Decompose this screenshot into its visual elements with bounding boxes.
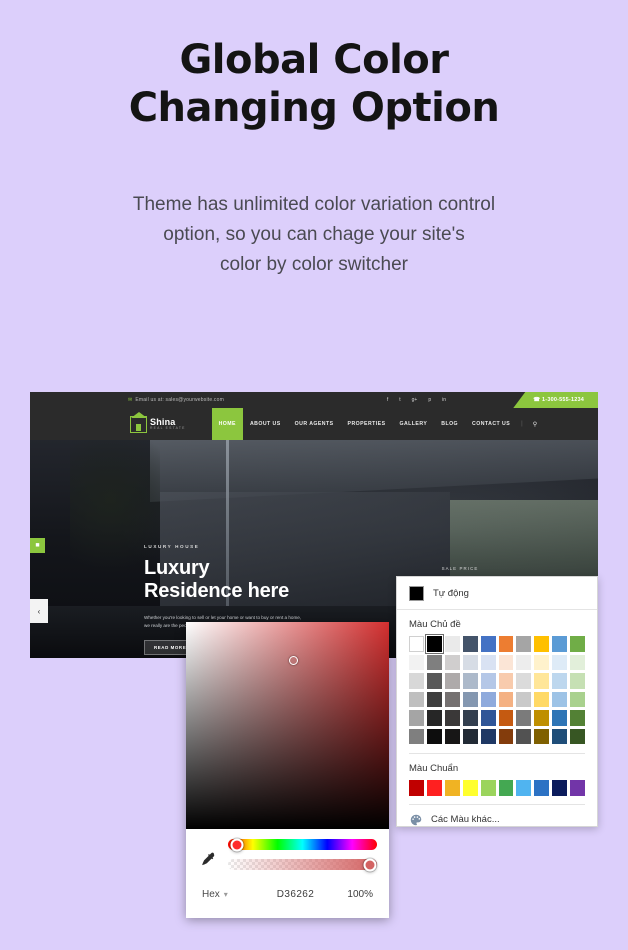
theme-color-swatch[interactable] xyxy=(445,673,460,689)
theme-color-swatch[interactable] xyxy=(463,673,478,689)
theme-color-swatch[interactable] xyxy=(516,710,531,726)
theme-color-swatch[interactable] xyxy=(445,729,460,745)
theme-color-row xyxy=(409,636,585,652)
standard-color-swatch[interactable] xyxy=(427,780,442,796)
standard-color-swatch[interactable] xyxy=(499,780,514,796)
theme-color-row xyxy=(409,729,585,745)
theme-color-swatch[interactable] xyxy=(570,636,585,652)
theme-color-swatch[interactable] xyxy=(481,636,496,652)
saturation-value-area[interactable] xyxy=(186,622,389,829)
theme-color-swatch[interactable] xyxy=(409,729,424,745)
search-icon[interactable]: ⚲ xyxy=(527,421,543,428)
theme-color-row xyxy=(409,692,585,708)
palette-icon xyxy=(409,813,423,827)
standard-color-swatch[interactable] xyxy=(481,780,496,796)
page-header: Global Color Changing Option Theme has u… xyxy=(0,0,628,280)
theme-color-swatch[interactable] xyxy=(534,673,549,689)
standard-colors-grid xyxy=(397,780,597,796)
chevron-down-icon: ▾ xyxy=(224,890,228,899)
topbar-phone-text: 1-300-555-1234 xyxy=(542,397,584,403)
automatic-color-option[interactable]: Tự động xyxy=(397,584,597,610)
pinterest-icon[interactable]: p xyxy=(428,397,431,403)
theme-color-swatch[interactable] xyxy=(427,692,442,708)
theme-color-swatch[interactable] xyxy=(463,636,478,652)
theme-color-swatch[interactable] xyxy=(499,710,514,726)
theme-color-swatch[interactable] xyxy=(463,692,478,708)
hue-slider-knob[interactable] xyxy=(230,838,243,851)
theme-color-swatch[interactable] xyxy=(481,673,496,689)
color-picker-popover: Hex ▾ D36262 100% xyxy=(186,622,389,918)
page-subtitle-line-2: option, so you can chage your site's xyxy=(0,220,628,250)
theme-color-swatch[interactable] xyxy=(481,692,496,708)
theme-color-swatch[interactable] xyxy=(409,692,424,708)
topbar-email[interactable]: ✉ Email us at: sales@yourwebsite.com xyxy=(128,397,224,403)
theme-color-swatch[interactable] xyxy=(445,636,460,652)
nav-item-properties[interactable]: PROPERTIES xyxy=(341,408,393,440)
nav-item-gallery[interactable]: GALLERY xyxy=(393,408,435,440)
nav-item-home[interactable]: HOME xyxy=(212,408,243,440)
price-label: SALE PRICE xyxy=(402,566,518,571)
theme-color-swatch[interactable] xyxy=(534,729,549,745)
theme-color-swatch[interactable] xyxy=(570,729,585,745)
standard-color-swatch[interactable] xyxy=(409,780,424,796)
hero-title: Luxury Residence here xyxy=(144,557,374,603)
standard-color-swatch[interactable] xyxy=(570,780,585,796)
theme-color-swatch[interactable] xyxy=(445,692,460,708)
theme-color-swatch[interactable] xyxy=(552,729,567,745)
more-colors-option[interactable]: Các Màu khác... xyxy=(409,804,585,827)
theme-color-swatch[interactable] xyxy=(427,655,442,671)
theme-color-swatch[interactable] xyxy=(481,710,496,726)
hero-title-line-2: Residence here xyxy=(144,580,374,603)
envelope-icon: ✉ xyxy=(128,397,132,403)
theme-color-swatch[interactable] xyxy=(552,692,567,708)
theme-color-swatch[interactable] xyxy=(570,673,585,689)
page-subtitle-line-1: Theme has unlimited color variation cont… xyxy=(0,190,628,220)
theme-color-swatch[interactable] xyxy=(570,710,585,726)
theme-color-swatch[interactable] xyxy=(552,710,567,726)
theme-color-swatch[interactable] xyxy=(463,655,478,671)
site-navbar: Shina REAL ESTATE HOME ABOUT US OUR AGEN… xyxy=(30,408,598,440)
theme-color-swatch[interactable] xyxy=(409,673,424,689)
theme-color-swatch[interactable] xyxy=(427,729,442,745)
theme-color-swatch[interactable] xyxy=(499,729,514,745)
theme-color-swatch[interactable] xyxy=(409,636,424,652)
theme-color-swatch[interactable] xyxy=(516,692,531,708)
hex-mode-dropdown[interactable]: Hex ▾ xyxy=(202,889,264,900)
alpha-slider-knob[interactable] xyxy=(363,858,376,871)
page-subtitle: Theme has unlimited color variation cont… xyxy=(0,190,628,280)
topbar-phone[interactable]: ☎ 1-300-555-1234 xyxy=(513,392,598,408)
theme-color-swatch[interactable] xyxy=(499,692,514,708)
slider-prev-button[interactable]: ‹ xyxy=(30,599,48,623)
theme-color-swatch[interactable] xyxy=(499,636,514,652)
theme-color-swatch[interactable] xyxy=(552,655,567,671)
site-top-bar: ✉ Email us at: sales@yourwebsite.com f t… xyxy=(30,392,598,408)
theme-color-swatch[interactable] xyxy=(534,636,549,652)
standard-color-swatch[interactable] xyxy=(516,780,531,796)
theme-color-swatch[interactable] xyxy=(463,729,478,745)
theme-color-swatch[interactable] xyxy=(570,655,585,671)
theme-color-swatch[interactable] xyxy=(534,692,549,708)
topbar-email-text: Email us at: sales@yourwebsite.com xyxy=(135,397,224,403)
phone-icon: ☎ xyxy=(533,397,542,403)
hex-mode-label: Hex xyxy=(202,889,220,900)
theme-color-swatch[interactable] xyxy=(445,655,460,671)
standard-color-swatch[interactable] xyxy=(445,780,460,796)
logo-tagline: REAL ESTATE xyxy=(150,427,186,430)
theme-color-swatch[interactable] xyxy=(516,655,531,671)
nav-item-blog[interactable]: BLOG xyxy=(434,408,465,440)
theme-color-swatch[interactable] xyxy=(552,636,567,652)
theme-color-swatch[interactable] xyxy=(463,710,478,726)
theme-color-swatch[interactable] xyxy=(516,636,531,652)
automatic-color-swatch[interactable] xyxy=(409,586,424,601)
nav-item-contact-us[interactable]: CONTACT US xyxy=(465,408,517,440)
theme-colors-title: Màu Chủ đề xyxy=(397,610,597,636)
theme-color-swatch[interactable] xyxy=(445,710,460,726)
theme-color-row xyxy=(409,710,585,726)
more-colors-label: Các Màu khác... xyxy=(431,814,500,825)
automatic-color-label: Tự động xyxy=(433,588,469,599)
theme-color-swatch[interactable] xyxy=(552,673,567,689)
social-links[interactable]: f t g+ p in xyxy=(387,397,446,403)
office-color-palette: Tự động Màu Chủ đề Màu Chuẩn Các Màu khá… xyxy=(396,576,598,827)
theme-color-swatch[interactable] xyxy=(516,729,531,745)
theme-color-swatch[interactable] xyxy=(409,655,424,671)
theme-color-swatch[interactable] xyxy=(516,673,531,689)
page-title: Global Color Changing Option xyxy=(0,36,628,132)
theme-color-row xyxy=(409,673,585,689)
standard-color-row xyxy=(409,780,585,796)
alpha-value-input[interactable]: 100% xyxy=(327,889,373,900)
theme-color-swatch[interactable] xyxy=(409,710,424,726)
nav-item-about-us[interactable]: ABOUT US xyxy=(243,408,288,440)
hero-title-line-1: Luxury xyxy=(144,557,374,580)
theme-color-swatch[interactable] xyxy=(427,673,442,689)
theme-color-swatch[interactable] xyxy=(481,655,496,671)
theme-color-swatch[interactable] xyxy=(499,673,514,689)
googleplus-icon[interactable]: g+ xyxy=(412,397,418,403)
theme-color-swatch[interactable] xyxy=(481,729,496,745)
facebook-icon[interactable]: f xyxy=(387,397,388,403)
theme-colors-grid xyxy=(397,636,597,744)
theme-color-swatch[interactable] xyxy=(499,655,514,671)
page-title-line-2: Changing Option xyxy=(0,84,628,132)
theme-color-swatch[interactable] xyxy=(534,710,549,726)
standard-color-swatch[interactable] xyxy=(463,780,478,796)
page-title-line-1: Global Color xyxy=(0,36,628,84)
standard-colors-title: Màu Chuẩn xyxy=(397,754,597,780)
theme-color-swatch[interactable] xyxy=(427,636,442,652)
nav-divider: | xyxy=(517,421,527,427)
hue-slider[interactable] xyxy=(228,839,377,850)
camera-icon[interactable]: ■ xyxy=(30,538,45,553)
house-icon xyxy=(130,416,147,433)
nav-item-our-agents[interactable]: OUR AGENTS xyxy=(288,408,341,440)
theme-color-swatch[interactable] xyxy=(427,710,442,726)
standard-color-swatch[interactable] xyxy=(534,780,549,796)
theme-color-row xyxy=(409,655,585,671)
eyedropper-icon xyxy=(200,851,217,868)
alpha-slider[interactable] xyxy=(228,859,377,870)
hex-value-input[interactable]: D36262 xyxy=(264,889,327,900)
theme-color-swatch[interactable] xyxy=(534,655,549,671)
page-subtitle-line-3: color by color switcher xyxy=(0,250,628,280)
sv-handle[interactable] xyxy=(289,656,298,665)
eyedropper-button[interactable] xyxy=(198,851,218,868)
hero-kicker: LUXURY HOUSE xyxy=(144,544,374,549)
twitter-icon[interactable]: t xyxy=(399,397,400,403)
primary-nav: HOME ABOUT US OUR AGENTS PROPERTIES GALL… xyxy=(212,408,544,440)
site-logo[interactable]: Shina REAL ESTATE xyxy=(130,416,186,433)
standard-color-swatch[interactable] xyxy=(552,780,567,796)
theme-color-swatch[interactable] xyxy=(570,692,585,708)
linkedin-icon[interactable]: in xyxy=(442,397,446,403)
